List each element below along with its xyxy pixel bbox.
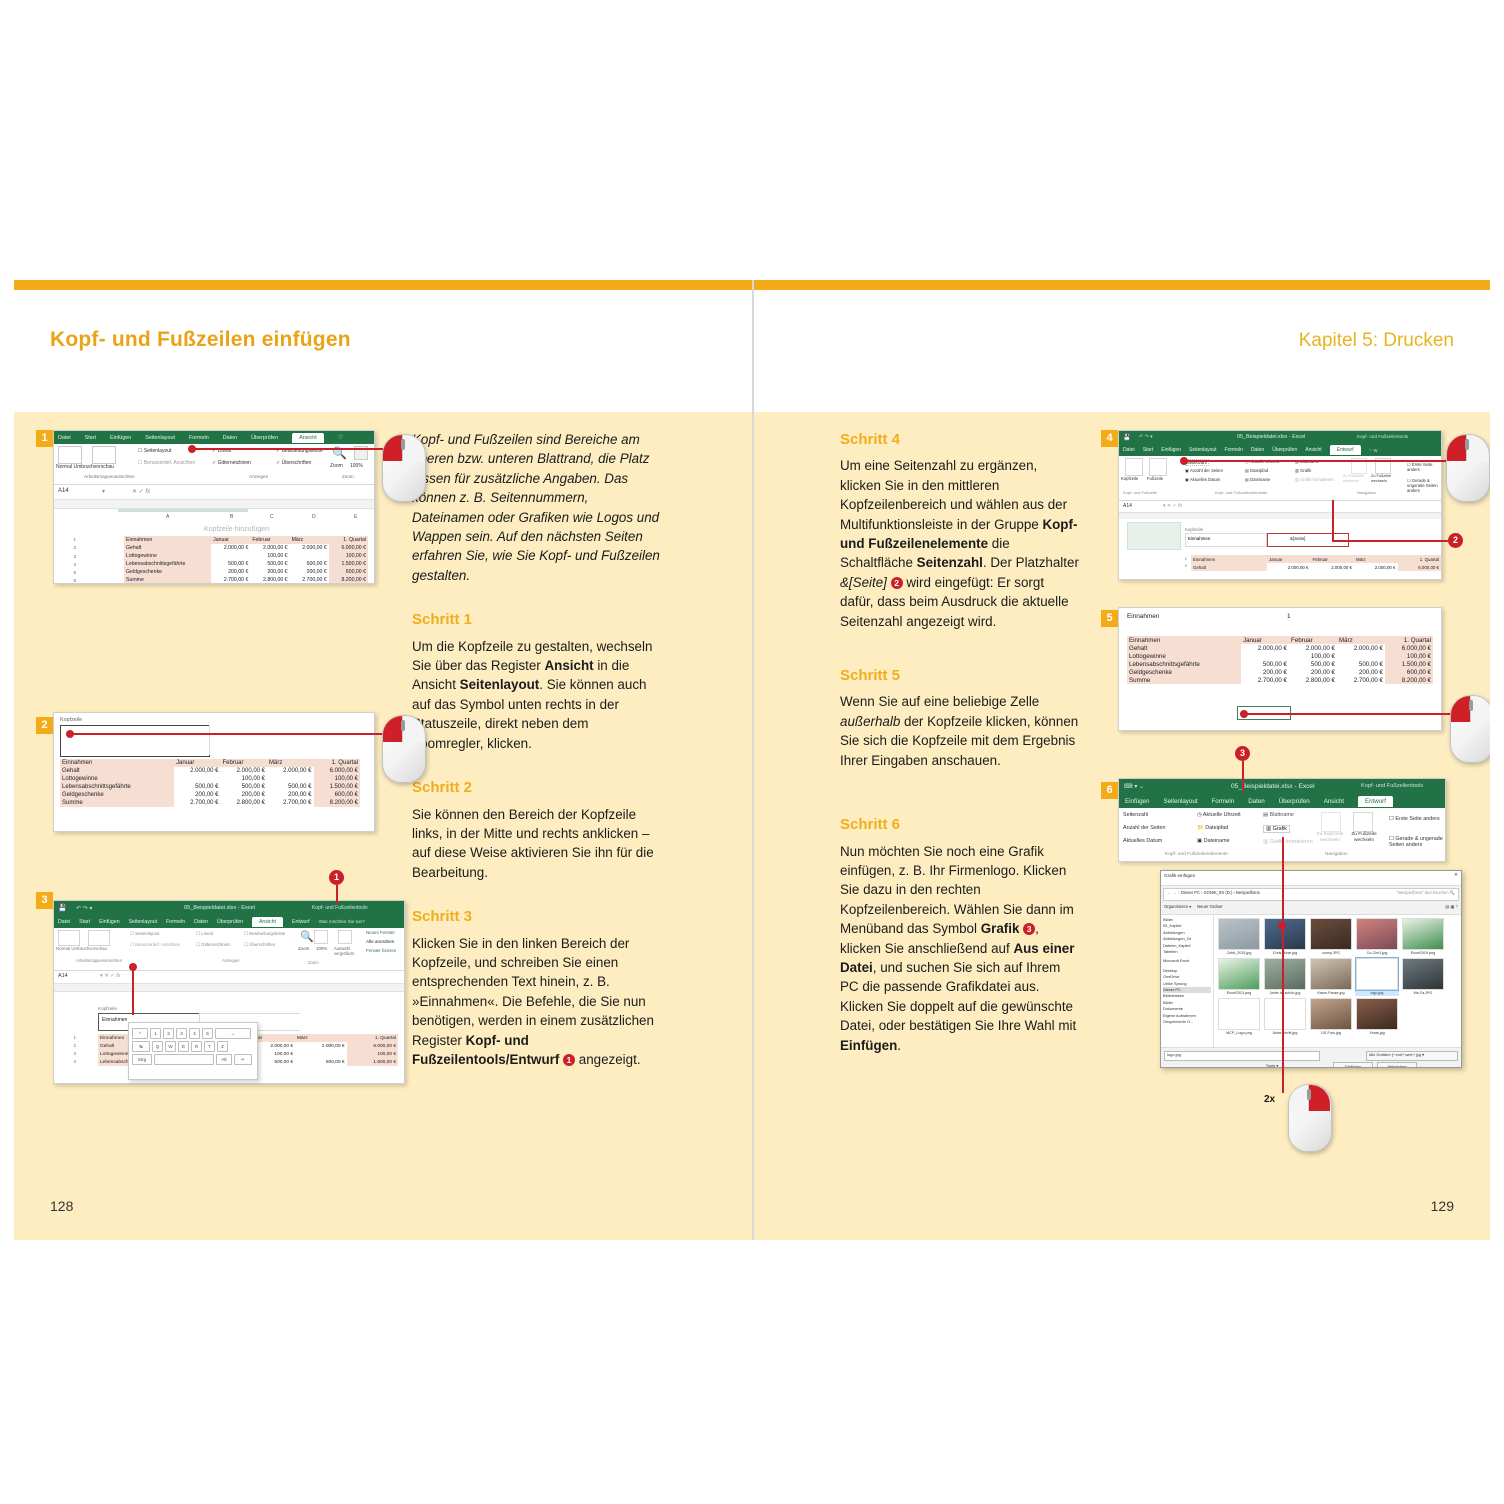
gitternetz-3[interactable]: ☐ Gitternetzlinien — [196, 942, 230, 948]
page-number-right: 129 — [1431, 1198, 1454, 1214]
tab4-seitenlayout[interactable]: Seitenlayout — [1189, 447, 1217, 453]
ribbon-4: Datei Start Einfügen Seitenlayout Formel… — [1119, 444, 1441, 456]
anzahl-seiten-6[interactable]: Anzahl der Seiten — [1123, 825, 1166, 831]
sidebar-item-gespeicherte[interactable]: Gespeicherte D... — [1163, 1019, 1211, 1025]
ribbon-tabs-6[interactable]: Einfügen Seitenlayout Formeln Daten Über… — [1119, 794, 1445, 808]
view-group-items[interactable]: Normal Umbruchvorschau — [56, 464, 114, 470]
group1-label-3: Arbeitsmappenansichten — [76, 958, 122, 963]
key-2[interactable]: 2 — [163, 1028, 174, 1039]
file-thumbnail — [1218, 998, 1260, 1030]
zoom100-label-3[interactable]: 100% — [316, 946, 327, 951]
leader-line-6b — [1282, 1049, 1284, 1093]
step-1-body: Um die Kopfzeile zu gestalten, wechseln … — [412, 637, 662, 753]
file-thumbnail — [1356, 918, 1398, 950]
header-left-text-4: Einnahmen — [1188, 536, 1210, 541]
name-box-3[interactable]: A14 — [58, 973, 68, 979]
key-tab[interactable]: ↹ — [132, 1041, 150, 1052]
fenster-fixieren-3[interactable]: Fenster fixieren — [366, 948, 396, 953]
file-item[interactable]: Unterschrift.jpg — [1263, 998, 1307, 1036]
row-numbers-1: 12 34 56 7 — [58, 536, 76, 584]
dialog-file-grid[interactable]: Cebit_2015.jpg Chris-Rose.jpg conny.JPG … — [1214, 915, 1461, 1047]
key-alt[interactable]: Alt — [216, 1054, 232, 1065]
dateiname-6[interactable]: ▣ Dateiname — [1197, 838, 1230, 844]
contextual-tab-title-6: Kopf- und Fußzeilentools — [1361, 783, 1423, 789]
group2-label: Anzeigen — [249, 474, 268, 479]
file-thumbnail — [1402, 958, 1444, 990]
left-page-body: 1 Datei Start Einfügen Seitenlayout Form… — [14, 412, 752, 1240]
step-4-body: Um eine Seitenzahl zu ergänzen, klicken … — [840, 456, 1080, 631]
pagebreak-icon-3[interactable] — [88, 930, 110, 946]
zoom-label-3[interactable]: Zoom — [298, 946, 309, 951]
key-3[interactable]: 3 — [176, 1028, 187, 1039]
grafik-formatieren-6: ▥ Grafik formatieren — [1263, 839, 1313, 845]
file-thumbnail — [1264, 958, 1306, 990]
alle-anordnen-3[interactable]: Alle anordnen — [366, 939, 394, 944]
blattname-6[interactable]: ▤ Blattname — [1263, 812, 1294, 818]
leader-line-6 — [1282, 837, 1284, 1049]
leader-line-4 — [1184, 460, 1454, 462]
auswahl-label-3[interactable]: Auswahl vergrößern — [334, 946, 360, 956]
mouse-icon-1 — [382, 434, 424, 500]
key-q[interactable]: Q — [152, 1041, 163, 1052]
ribbon-tabs-3[interactable]: Datei Start Einfügen Seitenlayout Formel… — [54, 915, 404, 928]
pointer-dot-5 — [1240, 710, 1248, 718]
dateipfad-6[interactable]: 📁 Dateipfad — [1197, 825, 1228, 831]
ruler-3 — [54, 984, 404, 992]
group-nav-label-6: Navigation — [1325, 852, 1348, 857]
header-add-placeholder[interactable]: Kopfzeile hinzufügen — [204, 526, 269, 533]
kopfzeile-label-3: Kopfzeile — [98, 1006, 117, 1011]
pointer-dot-4 — [1180, 457, 1188, 465]
bearbeitungsleiste-3[interactable]: ☐ Bearbeitungsleiste — [244, 931, 285, 937]
group3-label: Zoom — [342, 474, 354, 479]
leader-line-5 — [1244, 713, 1456, 715]
tab6-ansicht[interactable]: Ansicht — [1324, 798, 1344, 805]
file-item[interactable]: Xmas.jpg — [1355, 998, 1399, 1036]
key-t[interactable]: T — [204, 1041, 215, 1052]
group3-label-3: Zoom — [308, 960, 319, 965]
tab4-start[interactable]: Start — [1143, 447, 1154, 453]
dialog-address-bar[interactable]: ← → ↑ Dieser PC › SONIK_8X (D:) › Beispi… — [1163, 888, 1459, 901]
file-item[interactable]: Excel2013.png — [1217, 958, 1261, 996]
tab3-einfuegen[interactable]: Einfügen — [99, 919, 119, 925]
benutzerdef-3[interactable]: ☐ Benutzerdef. Ansichten — [130, 942, 180, 948]
tab3-seitenlayout[interactable]: Seitenlayout — [129, 919, 158, 925]
group-elements-label-6: Kopf- und Fußzeilenelemente — [1165, 852, 1228, 857]
normal-view-icon[interactable] — [58, 446, 82, 464]
sheet-table-1: Einnahmen Januar Februar März 1. Quartal… — [124, 536, 368, 584]
zu-fusszeile-icon-6[interactable] — [1353, 812, 1373, 832]
qat-icons-4[interactable]: ↶ ↷ ▾ — [1139, 434, 1153, 440]
file-thumbnail — [1218, 918, 1260, 950]
gitternetzlinien-checkbox[interactable]: ✓ Gitternetzlinien — [212, 460, 251, 466]
dialog-titlebar: Grafik einfügen ✕ — [1161, 871, 1461, 886]
header-placeholder-code-4: &[Seite] — [1290, 536, 1305, 541]
step-3-title: Schritt 3 — [412, 907, 662, 926]
tab3-start[interactable]: Start — [79, 919, 90, 925]
step-2-body: Sie können den Bereich der Kopfzeile lin… — [412, 805, 662, 883]
page-gutter — [752, 280, 754, 1240]
mouse-icon-4 — [1446, 434, 1488, 500]
pagebreak-view-icon[interactable] — [92, 446, 116, 464]
sheet-table-4: EinnahmenJanuarFebruarMärz1. Quartal Geh… — [1191, 555, 1441, 571]
file-thumbnail — [1218, 958, 1260, 990]
step-3-body: Klicken Sie in den linken Bereich der Ko… — [412, 934, 662, 1070]
benutzerdef-checkbox[interactable]: ☐ Benutzerdef. Ansichten — [138, 460, 195, 466]
seitenzahl-6[interactable]: Seitenzahl — [1123, 812, 1148, 818]
grafik-4[interactable]: ▥ Grafik — [1295, 468, 1311, 473]
page-number-left: 128 — [50, 1198, 73, 1214]
mouse-icon-2 — [382, 715, 424, 781]
insert-button[interactable]: Einfügen — [1333, 1062, 1373, 1068]
pointer-dot-1 — [188, 445, 196, 453]
ribbon-tabs-4[interactable]: Datei Start Einfügen Seitenlayout Formel… — [1119, 444, 1441, 456]
titlebar-6: ⌨ ▾ ⌄ 05_Beispieldatei.xlsx - Excel Kopf… — [1119, 779, 1445, 794]
figure-4-design-seitenzahl: 💾 ↶ ↷ ▾ 05_Beispieldatei.xlsx - Excel Ko… — [1118, 430, 1442, 580]
seitenlayout-3[interactable]: ☐ Seitenlayout — [130, 931, 159, 937]
figure-badge-4: 4 — [1101, 430, 1118, 447]
key-r[interactable]: R — [191, 1041, 202, 1052]
group1-label: Arbeitsmappenansichten — [84, 474, 135, 479]
dialog-title-text: Grafik einfügen — [1164, 873, 1195, 878]
dialog-toolbar[interactable]: Organisieren ▾ Neuer Ordner ▤ ▦ ? — [1161, 903, 1461, 915]
key-space[interactable] — [154, 1054, 214, 1065]
inline-callout: 1 — [563, 1054, 575, 1066]
callout-leader-1 — [336, 885, 338, 904]
pointer-dot-6 — [1278, 922, 1286, 930]
callout-2: 2 — [1448, 533, 1463, 548]
tab-seitenlayout[interactable]: Seitenlayout — [145, 435, 175, 441]
step-5-body: Wenn Sie auf eine beliebige Zelle außerh… — [840, 692, 1080, 770]
zoom100-icon-3[interactable] — [314, 930, 328, 944]
ruler-1 — [54, 500, 374, 509]
callout-leader-3 — [1242, 761, 1244, 791]
inline-callout: 3 — [1023, 923, 1035, 935]
dialog-footer: logo.jpg Alle Grafiken (*.emf;*.wmf;*.jp… — [1161, 1047, 1461, 1068]
ueberschriften-checkbox[interactable]: ✓ Überschriften — [276, 460, 311, 466]
save-icon-4[interactable]: 💾 — [1123, 434, 1130, 441]
formula-icons[interactable]: ✕ ✓ fx — [132, 488, 150, 495]
filename-input[interactable]: logo.jpg — [1164, 1051, 1320, 1061]
grafik-6[interactable]: ▥ Grafik — [1263, 825, 1290, 833]
file-item[interactable]: Excel2019.png — [1401, 918, 1445, 956]
figure-1-excel-view-tab: Datei Start Einfügen Seitenlayout Formel… — [53, 430, 375, 584]
tab3-ueberpruefen[interactable]: Überprüfen — [217, 919, 243, 925]
pointer-dot-3 — [129, 963, 137, 971]
tab3-entwurf[interactable]: Entwurf — [292, 919, 310, 925]
step-6-body: Nun möchten Sie noch eine Grafik einfüge… — [840, 842, 1080, 1055]
file-item[interactable]: Co-Chri1.jpg — [1355, 918, 1399, 956]
key-e[interactable]: E — [178, 1041, 189, 1052]
zoom-icon-3[interactable]: 🔍 — [300, 930, 314, 943]
tab3-formeln[interactable]: Formeln — [166, 919, 185, 925]
key-5[interactable]: 5 — [202, 1028, 213, 1039]
tab4-ueberpruefen[interactable]: Überprüfen — [1272, 447, 1297, 453]
group-nav-label-4: Navigation — [1357, 490, 1376, 495]
inline-callout: 2 — [891, 577, 903, 589]
group2-label-3: Anzeigen — [222, 958, 239, 963]
group-hf-label-4: Kopf- und Fußzeile — [1123, 490, 1157, 495]
dateiname-4[interactable]: ▤ Dateiname — [1245, 477, 1270, 482]
erste-seite-anders-4[interactable]: ☐ Erste Seite anders — [1407, 462, 1441, 472]
column-headers-1[interactable]: A B C D E — [54, 514, 374, 522]
zu-kopfzeile-label-4: Zu Kopfzeile wechseln — [1343, 474, 1371, 484]
undo-redo-icons[interactable]: ↶ ↷ ▾ — [76, 905, 92, 912]
leader-line-3 — [132, 967, 134, 1015]
tab6-formeln[interactable]: Formeln — [1212, 798, 1235, 805]
gerade-ungerade-4[interactable]: ☐ Gerade & ungerade Seiten anders — [1407, 478, 1441, 493]
tab6-seitenlayout[interactable]: Seitenlayout — [1163, 798, 1197, 805]
sheet-area-4: Kopfzeile Einnahmen &[Seite] 12 Einnahme… — [1119, 513, 1441, 580]
step-4-title: Schritt 4 — [840, 430, 1080, 449]
namebox-arrow-icon[interactable]: ▾ — [102, 488, 105, 495]
tab6-daten[interactable]: Daten — [1248, 798, 1265, 805]
zoom-100-label[interactable]: 100% — [350, 463, 363, 469]
page-title: Kopf- und Fußzeilen einfügen — [50, 328, 351, 352]
app-title-4: 05_Beispieldatei.xlsx - Excel — [1237, 434, 1305, 440]
save-icon[interactable]: 💾 — [58, 904, 67, 912]
step-6-title: Schritt 6 — [840, 815, 1080, 834]
file-item[interactable]: Jeder ist schön.jpg — [1263, 958, 1307, 996]
tab6-ueberpruefen[interactable]: Überprüfen — [1279, 798, 1310, 805]
double-click-label: 2x — [1264, 1094, 1275, 1105]
kopfzeile-label: Kopfzeile — [60, 717, 82, 723]
ruler-4 — [1119, 513, 1441, 519]
tab4-formeln[interactable]: Formeln — [1225, 447, 1243, 453]
cancel-button[interactable]: Abbrechen — [1377, 1062, 1417, 1068]
step-5-title: Schritt 5 — [840, 666, 1080, 685]
pointer-dot-2 — [66, 730, 74, 738]
tab-einfuegen[interactable]: Einfügen — [110, 435, 131, 441]
mouse-icon-5 — [1450, 695, 1490, 761]
tab3-daten[interactable]: Daten — [194, 919, 208, 925]
normal-icon-3[interactable] — [58, 930, 80, 946]
zu-kopfzeile-icon-6 — [1321, 812, 1341, 832]
step-2-title: Schritt 2 — [412, 778, 662, 797]
ueberschriften-3[interactable]: ☐ Überschriften — [244, 942, 275, 948]
dialog-path[interactable]: Dieser PC › SONIK_8X (D:) › Beispielfoto… — [1181, 890, 1260, 895]
kopfzeile-label-4b: Kopfzeile — [1185, 527, 1203, 532]
key-z[interactable]: Z — [217, 1041, 228, 1052]
left-page: Kopf- und Fußzeilen einfügen 1 Datei Sta… — [14, 280, 752, 1240]
leader-line-2 — [70, 733, 388, 735]
kopfzeile-icon-4[interactable] — [1125, 458, 1143, 476]
file-item-selected[interactable]: logo.jpg — [1355, 958, 1399, 996]
header-left-text-5: Einnahmen — [1127, 613, 1159, 620]
selected-cells-4 — [1127, 522, 1181, 550]
file-thumbnail — [1356, 998, 1398, 1030]
tab-daten[interactable]: Daten — [223, 435, 237, 441]
figure-badge-3: 3 — [36, 892, 53, 909]
keyboard-row-1: ^ 1 2 3 4 5 ← — [132, 1028, 254, 1039]
right-text-column: Schritt 4 Um eine Seitenzahl zu ergänzen… — [840, 430, 1080, 1068]
header-left-box-4[interactable]: Einnahmen — [1185, 533, 1267, 547]
key-backspace[interactable]: ← — [215, 1028, 251, 1039]
callout-1: 1 — [329, 870, 344, 885]
erste-seite-anders-6[interactable]: ☐ Erste Seite anders — [1389, 816, 1440, 822]
zu-kopfzeile-label-6: Zu Kopfzeile wechseln — [1313, 832, 1347, 844]
keyboard-row-3: Strg Alt ↵ — [132, 1054, 254, 1065]
top-accent-bar — [14, 280, 752, 290]
titlebar-3: 💾 ↶ ↷ ▾ 05_Beispieldatei.xlsx - Excel Ko… — [54, 901, 404, 915]
tab-formeln[interactable]: Formeln — [189, 435, 209, 441]
qat-icons-6[interactable]: ⌨ ▾ ⌄ — [1124, 783, 1144, 790]
view-items-3[interactable]: Normal Umbruchvorschau — [56, 946, 107, 951]
tell-me-icon[interactable]: ♡ — [338, 434, 343, 441]
file-thumbnail — [1310, 958, 1352, 990]
name-box-1[interactable]: A14 — [58, 488, 69, 494]
zu-fusszeile-label-6[interactable]: Zu Fußzeile wechseln — [1347, 832, 1381, 844]
file-thumbnail — [1310, 998, 1352, 1030]
right-page-header: Kapitel 5: Drucken — [752, 290, 1490, 412]
file-item[interactable]: Ms-Fa.JPG — [1401, 958, 1445, 996]
contextual-tab-title-4: Kopf- und Fußzeilentools — [1357, 434, 1408, 439]
ribbon-body-4: Kopfzeile Fußzeile Kopf- und Fußzeile Se… — [1119, 456, 1441, 501]
left-page-header: Kopf- und Fußzeilen einfügen — [14, 290, 752, 412]
neuer-ordner-button[interactable]: Neuer Ordner — [1197, 904, 1223, 909]
fusszeile-label-4[interactable]: Fußzeile — [1147, 476, 1163, 481]
header-page-number-5: 1 — [1287, 613, 1291, 620]
dialog-main: Bilder 05_Kapitel Abbildungen Abbildunge… — [1161, 915, 1461, 1047]
tab4-daten[interactable]: Daten — [1251, 447, 1264, 453]
callout-3: 3 — [1235, 746, 1250, 761]
figure-badge-6: 6 — [1101, 782, 1118, 799]
sheet-table-2: Einnahmen Januar Februar März 1. Quartal… — [60, 759, 360, 807]
tab4-ansicht[interactable]: Ansicht — [1305, 447, 1321, 453]
row-numbers-4: 12 — [1169, 555, 1187, 569]
figure-badge-5: 5 — [1101, 610, 1118, 627]
file-thumbnail — [1356, 958, 1398, 990]
formula-bar-4[interactable]: A14 ▾ ✕ ✓ fx — [1119, 501, 1441, 513]
key-enter[interactable]: ↵ — [234, 1054, 252, 1065]
row-numbers-3: 12 34 — [58, 1034, 76, 1066]
figure-badge-1: 1 — [36, 430, 53, 447]
tab4-datei[interactable]: Datei — [1123, 447, 1135, 453]
book-spread: Kopf- und Fußzeilen einfügen 1 Datei Sta… — [14, 280, 1490, 1240]
name-box-4[interactable]: A14 — [1123, 503, 1132, 509]
ribbon-6: Einfügen Seitenlayout Formeln Daten Über… — [1119, 794, 1445, 808]
key-circumflex[interactable]: ^ — [132, 1028, 148, 1039]
aktuelles-datum-4[interactable]: ▣ Aktuelles Datum — [1185, 477, 1220, 482]
dateipfad-4[interactable]: ▤ Dateipfad — [1245, 468, 1268, 473]
key-1[interactable]: 1 — [150, 1028, 161, 1039]
sheet-table-5: EinnahmenJanuarFebruarMärz1. Quartal Geh… — [1127, 636, 1433, 684]
leader-line-1 — [192, 448, 388, 450]
dialog-sidebar[interactable]: Bilder 05_Kapitel Abbildungen Abbildunge… — [1161, 915, 1214, 1047]
header-left-text-3: Einnahmen — [102, 1017, 127, 1023]
callout-leader-2b — [1332, 500, 1334, 541]
formula-icons-3[interactable]: ▾ ✕ ✓ fx — [100, 973, 120, 979]
ribbon-1: Datei Start Einfügen Seitenlayout Formel… — [54, 431, 374, 444]
kopfzeile-label-4[interactable]: Kopfzeile — [1121, 476, 1138, 481]
tell-me-4[interactable]: ♡ W — [1369, 448, 1378, 453]
key-4[interactable]: 4 — [189, 1028, 200, 1039]
mouse-icon-6 — [1288, 1084, 1330, 1150]
tell-me-3[interactable]: Was möchten Sie tun? — [319, 919, 365, 924]
ribbon-3: Datei Start Einfügen Seitenlayout Formel… — [54, 915, 404, 928]
left-text-column: Kopf- und Fußzeilen sind Bereiche am obe… — [412, 430, 662, 1082]
auswahl-icon-3[interactable] — [338, 930, 352, 944]
tab-ansicht[interactable]: Ansicht — [292, 433, 324, 443]
header-left-box[interactable] — [60, 725, 210, 757]
group-elements-label-4: Kopf- und Fußzeilenelemente — [1215, 490, 1267, 495]
ribbon-body-1: Normal Umbruchvorschau ☐ Seitenlayout ☐ … — [54, 444, 374, 485]
anzahl-seiten-4[interactable]: ▣ Anzahl der Seiten — [1185, 468, 1223, 473]
app-title-3: 05_Beispieldatei.xlsx - Excel — [184, 905, 255, 911]
key-w[interactable]: W — [165, 1041, 176, 1052]
file-item[interactable]: Katze-Pause.jpg — [1309, 958, 1353, 996]
neues-fenster-3[interactable]: Neues Fenster — [366, 930, 395, 935]
close-icon[interactable]: ✕ — [1454, 872, 1458, 878]
ruler-highlight — [118, 509, 248, 512]
lineal-3[interactable]: ☐ Lineal — [196, 931, 213, 937]
header-center-box[interactable] — [209, 725, 360, 755]
tools-button[interactable]: Tools ▾ — [1253, 1062, 1291, 1068]
formula-bar-1[interactable]: A14 ▾ ✕ ✓ fx — [54, 485, 374, 500]
ribbon-tabs-1[interactable]: Datei Start Einfügen Seitenlayout Formel… — [54, 431, 374, 444]
app-title-6: 05_Beispieldatei.xlsx - Excel — [1231, 783, 1315, 790]
tab-start[interactable]: Start — [85, 435, 96, 441]
seitenlayout-checkbox[interactable]: ☐ Seitenlayout — [138, 448, 171, 454]
file-item[interactable]: Cebit_2015.jpg — [1217, 918, 1261, 956]
gerade-ungerade-6[interactable]: ☐ Gerade & ungerade Seiten anders — [1389, 836, 1445, 848]
step-1-title: Schritt 1 — [412, 610, 662, 629]
right-page-body: Schritt 4 Um eine Seitenzahl zu ergänzen… — [752, 412, 1490, 1240]
zoom-label[interactable]: Zoom — [330, 463, 343, 469]
top-accent-bar-right — [752, 280, 1490, 290]
grafik-einfuegen-dialog: Grafik einfügen ✕ ← → ↑ Dieser PC › SONI… — [1160, 870, 1462, 1068]
file-item[interactable]: US-Foto.jpg — [1309, 998, 1353, 1036]
chapter-label: Kapitel 5: Drucken — [1299, 330, 1454, 352]
figure-badge-2: 2 — [36, 717, 53, 734]
key-strg[interactable]: Strg — [132, 1054, 152, 1065]
titlebar-4: 💾 ↶ ↷ ▾ 05_Beispieldatei.xlsx - Excel Ko… — [1119, 431, 1441, 444]
ribbon-body-3: Normal Umbruchvorschau ☐ Seitenlayout ☐ … — [54, 928, 404, 971]
tab6-einfuegen[interactable]: Einfügen — [1125, 798, 1149, 805]
fusszeile-icon-4[interactable] — [1149, 458, 1167, 476]
intro-paragraph: Kopf- und Fußzeilen sind Bereiche am obe… — [412, 430, 662, 585]
organisieren-button[interactable]: Organisieren ▾ — [1164, 904, 1191, 909]
zu-fusszeile-label-4[interactable]: Zu Fußzeile wechseln — [1371, 474, 1399, 484]
right-page: Kapitel 5: Drucken Schritt 4 Um eine Sei… — [752, 280, 1490, 1240]
sheet-area-1: A B C D E Kopfzeile hinzufügen 12 34 56 … — [54, 500, 374, 584]
dialog-search[interactable]: "Beispielfotos" durchsuchen 🔍 — [1397, 890, 1455, 896]
aktuelle-uhrzeit-6[interactable]: ◷ Aktuelle Uhrzeit — [1197, 812, 1241, 818]
tab3-datei[interactable]: Datei — [58, 919, 70, 925]
formula-bar-3[interactable]: A14 ▾ ✕ ✓ fx — [54, 971, 404, 984]
file-thumbnail — [1402, 918, 1444, 950]
tab4-entwurf[interactable]: Entwurf — [1330, 445, 1361, 455]
file-thumbnail — [1264, 998, 1306, 1030]
contextual-tab-title-3: Kopf- und Fußzeilentools — [312, 905, 368, 911]
file-item[interactable]: conny.JPG — [1309, 918, 1353, 956]
callout-leader-2 — [1332, 540, 1448, 542]
formula-icons-4[interactable]: ▾ ✕ ✓ fx — [1163, 503, 1182, 509]
tab6-entwurf[interactable]: Entwurf — [1358, 796, 1393, 807]
file-thumbnail — [1310, 918, 1352, 950]
figure-2-header-area: Kopfzeile Einnahmen Januar Februar März … — [53, 712, 375, 832]
filetype-select[interactable]: Alle Grafiken (*.emf;*.wmf;*.jpg ▾ — [1366, 1051, 1458, 1061]
file-item[interactable]: MCP_Logo.png — [1217, 998, 1261, 1036]
tab-datei[interactable]: Datei — [58, 435, 71, 441]
keyboard-illustration: ^ 1 2 3 4 5 ← ↹ Q W E R T Z — [128, 1022, 258, 1080]
tab4-einfuegen[interactable]: Einfügen — [1161, 447, 1181, 453]
aktuelles-datum-6[interactable]: Aktuelles Datum — [1123, 838, 1162, 844]
grafik-formatieren-4: ▥ Grafik formatieren — [1295, 477, 1334, 482]
keyboard-row-2: ↹ Q W E R T Z — [132, 1041, 254, 1052]
tab-ueberpruefen[interactable]: Überprüfen — [251, 435, 278, 441]
tab3-ansicht[interactable]: Ansicht — [252, 917, 283, 927]
